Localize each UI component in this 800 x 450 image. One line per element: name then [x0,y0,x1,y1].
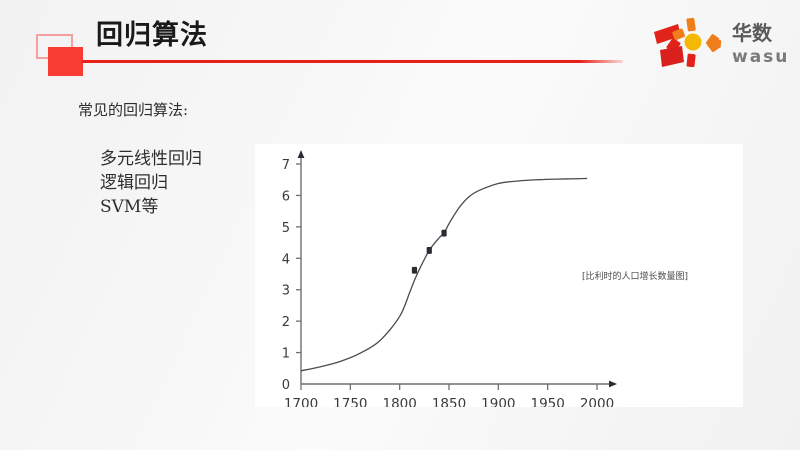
sunburst-icon [654,18,721,68]
logo-brand-cn: 华数 [732,21,773,45]
svg-text:5: 5 [282,221,290,236]
chart-tick-labels: 012345671700175018001850190019502000 [282,158,614,407]
svg-text:1850: 1850 [432,396,466,407]
header-divider-line [82,60,623,63]
wasu-logo-wordmark: 华数 wasu [732,21,788,67]
chart-axes [296,150,617,390]
list-item: SVM等 [100,195,202,219]
svg-text:1: 1 [282,347,290,362]
intro-label: 常见的回归算法: [78,99,188,120]
svg-text:1800: 1800 [382,396,416,407]
chart-series-line [301,178,587,370]
slide-canvas: 回归算法 华数 wasu [0,0,800,450]
svg-text:1950: 1950 [530,396,564,407]
svg-text:0: 0 [282,378,290,393]
wasu-logo: 华数 wasu [648,6,788,76]
page-title: 回归算法 [96,19,208,53]
header-decoration-solid-square [48,47,83,76]
algorithm-list: 多元线性回归 逻辑回归 SVM等 [100,147,202,219]
logo-brand-latin: wasu [732,47,788,67]
list-item: 多元线性回归 [100,147,202,171]
list-item: 逻辑回归 [100,171,202,195]
svg-text:2: 2 [282,315,290,330]
svg-text:1700: 1700 [284,396,318,407]
svg-text:7: 7 [282,158,290,173]
svg-text:1900: 1900 [481,396,515,407]
chart-panel: 012345671700175018001850190019502000 [比利… [255,144,743,407]
svg-text:4: 4 [282,252,290,267]
wasu-logo-svg: 华数 wasu [648,6,788,76]
svg-text:1750: 1750 [333,396,367,407]
svg-text:6: 6 [282,189,290,204]
svg-text:3: 3 [282,284,290,299]
chart-caption: [比利时的人口增长数量图] [582,269,688,282]
svg-text:2000: 2000 [580,396,614,407]
